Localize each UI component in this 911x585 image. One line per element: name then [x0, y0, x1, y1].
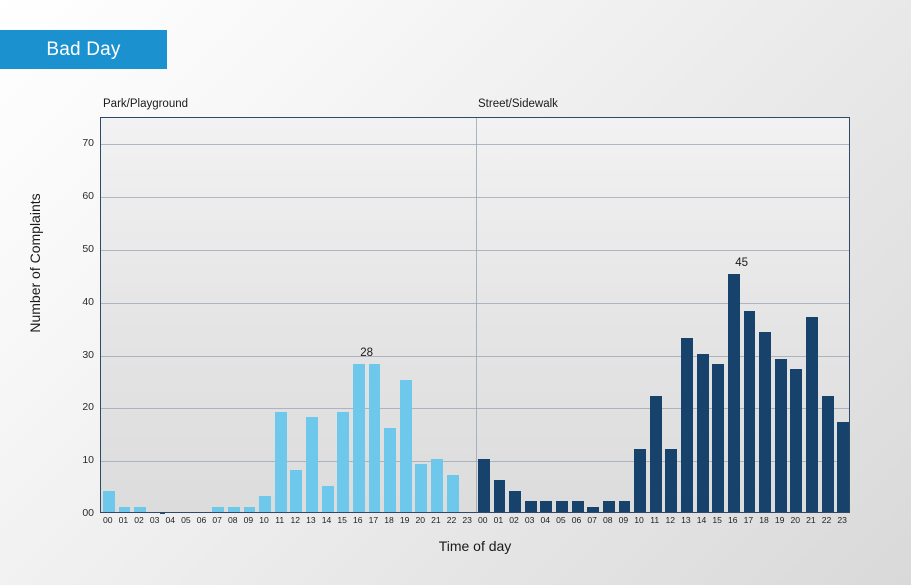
x-tick-label: 18 — [759, 515, 769, 525]
y-tick-label: 60 — [66, 190, 94, 202]
bar[interactable] — [337, 412, 349, 512]
x-tick-label: 15 — [337, 515, 347, 525]
y-tick-label: 00 — [66, 507, 94, 519]
x-tick-label: 04 — [541, 515, 551, 525]
x-tick-label: 06 — [197, 515, 207, 525]
gridline — [101, 250, 849, 251]
bar[interactable] — [712, 364, 724, 512]
bar[interactable] — [806, 317, 818, 512]
bar[interactable] — [400, 380, 412, 512]
x-tick-label: 10 — [634, 515, 644, 525]
x-tick-label: 09 — [619, 515, 629, 525]
bar[interactable] — [525, 501, 537, 512]
y-tick-label: 10 — [66, 454, 94, 466]
bar[interactable] — [275, 412, 287, 512]
x-axis-title: Time of day — [100, 538, 850, 554]
bar[interactable] — [415, 464, 427, 512]
x-tick-label: 07 — [212, 515, 222, 525]
bar[interactable] — [665, 449, 677, 512]
x-tick-label: 13 — [306, 515, 316, 525]
x-tick-label: 14 — [322, 515, 332, 525]
x-tick-label: 12 — [666, 515, 676, 525]
gridline — [101, 197, 849, 198]
x-tick-label: 01 — [119, 515, 129, 525]
y-tick-label: 30 — [66, 349, 94, 361]
x-tick-label: 17 — [744, 515, 754, 525]
x-tick-label: 17 — [369, 515, 379, 525]
bar[interactable] — [650, 396, 662, 512]
x-tick-label: 03 — [525, 515, 535, 525]
bar[interactable] — [353, 364, 365, 512]
y-tick-label: 20 — [66, 401, 94, 413]
bar[interactable] — [134, 507, 146, 512]
bar[interactable] — [119, 507, 131, 512]
x-tick-label: 16 — [353, 515, 363, 525]
x-tick-label: 05 — [181, 515, 191, 525]
bar[interactable] — [447, 475, 459, 512]
bar-value-label: 28 — [360, 347, 373, 359]
bar[interactable] — [572, 501, 584, 512]
x-tick-label: 13 — [681, 515, 691, 525]
y-tick-label: 70 — [66, 137, 94, 149]
bar[interactable] — [212, 507, 224, 512]
x-tick-label: 02 — [509, 515, 519, 525]
x-tick-label: 23 — [462, 515, 472, 525]
bar[interactable] — [494, 480, 506, 512]
bar[interactable] — [744, 311, 756, 512]
x-tick-label: 14 — [697, 515, 707, 525]
bar[interactable] — [290, 470, 302, 512]
x-tick-label: 07 — [587, 515, 597, 525]
bar[interactable] — [509, 491, 521, 512]
x-tick-label: 01 — [494, 515, 504, 525]
bar[interactable] — [634, 449, 646, 512]
bar[interactable] — [697, 354, 709, 512]
x-tick-label: 08 — [603, 515, 613, 525]
y-tick-label: 40 — [66, 296, 94, 308]
x-tick-label: 20 — [791, 515, 801, 525]
y-tick-label: 50 — [66, 243, 94, 255]
x-axis-tick-labels: 0001020304050607080910111213141516171819… — [100, 514, 850, 532]
bar[interactable] — [837, 422, 849, 512]
bar[interactable] — [822, 396, 834, 512]
x-tick-label: 05 — [556, 515, 566, 525]
x-tick-label: 20 — [416, 515, 426, 525]
bar[interactable] — [556, 501, 568, 512]
x-tick-label: 16 — [728, 515, 738, 525]
bar[interactable] — [775, 359, 787, 512]
bar[interactable] — [244, 507, 256, 512]
bar[interactable] — [322, 486, 334, 512]
bar[interactable] — [587, 507, 599, 512]
bar[interactable] — [259, 496, 271, 512]
bar[interactable] — [540, 501, 552, 512]
bar[interactable] — [728, 274, 740, 512]
bar[interactable] — [603, 501, 615, 512]
x-tick-label: 08 — [228, 515, 238, 525]
bar[interactable] — [103, 491, 115, 512]
bar[interactable] — [369, 364, 381, 512]
gridline — [101, 144, 849, 145]
panel-title-park-playground: Park/Playground — [103, 98, 188, 110]
bar[interactable] — [681, 338, 693, 512]
bar[interactable] — [431, 459, 443, 512]
y-axis-title: Number of Complaints — [27, 113, 43, 413]
x-tick-label: 06 — [572, 515, 582, 525]
x-tick-label: 21 — [806, 515, 816, 525]
x-tick-label: 00 — [478, 515, 488, 525]
x-tick-label: 00 — [103, 515, 113, 525]
x-tick-label: 22 — [822, 515, 832, 525]
x-tick-label: 18 — [384, 515, 394, 525]
x-tick-label: 15 — [712, 515, 722, 525]
bar[interactable] — [478, 459, 490, 512]
panel-title-street-sidewalk: Street/Sidewalk — [478, 98, 558, 110]
bar[interactable] — [306, 417, 318, 512]
bar[interactable] — [228, 507, 240, 512]
bar[interactable] — [790, 369, 802, 512]
panel-divider — [476, 118, 477, 512]
x-tick-label: 19 — [400, 515, 410, 525]
x-tick-label: 11 — [650, 515, 659, 525]
x-tick-label: 23 — [837, 515, 847, 525]
plot-area: 2845 — [100, 117, 850, 513]
bar[interactable] — [384, 428, 396, 512]
x-tick-label: 04 — [166, 515, 176, 525]
x-tick-label: 21 — [431, 515, 441, 525]
x-tick-label: 10 — [259, 515, 269, 525]
bar-value-label: 45 — [735, 257, 748, 269]
bar[interactable] — [619, 501, 631, 512]
x-tick-label: 22 — [447, 515, 457, 525]
x-tick-label: 19 — [775, 515, 785, 525]
x-tick-label: 03 — [150, 515, 160, 525]
x-tick-label: 09 — [244, 515, 254, 525]
x-tick-label: 02 — [134, 515, 144, 525]
x-tick-label: 12 — [291, 515, 301, 525]
complaints-bar-chart: Park/Playground Street/Sidewalk Number o… — [0, 0, 911, 585]
bar[interactable] — [759, 332, 771, 512]
x-tick-label: 11 — [275, 515, 284, 525]
y-axis-tick-labels: 0010203040506070 — [60, 117, 94, 513]
